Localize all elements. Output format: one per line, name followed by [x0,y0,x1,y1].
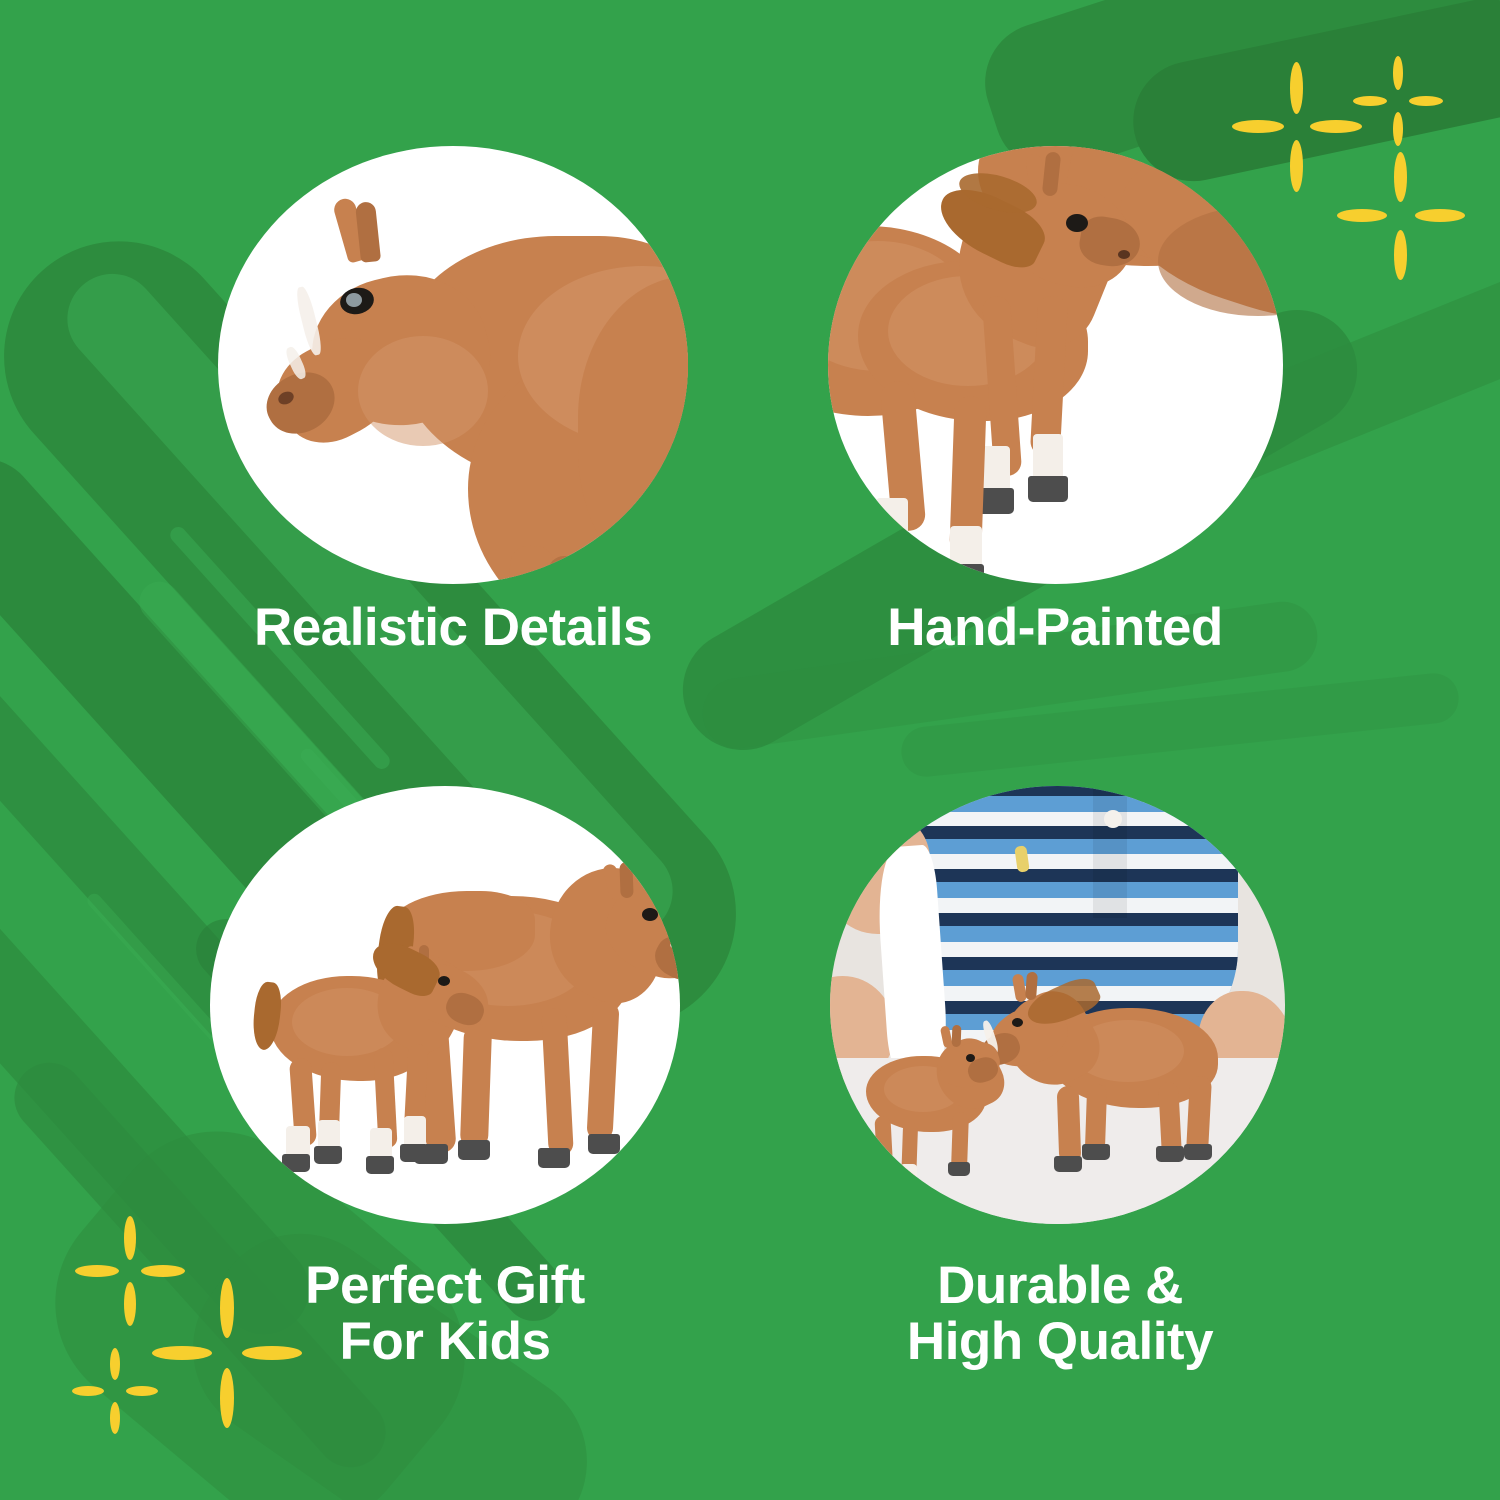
feature-caption-hand-painted: Hand-Painted [820,600,1290,656]
foal-figurine-in-hand [830,786,1285,1224]
sparkle-icon [1353,56,1443,146]
foal-sock [1033,434,1063,482]
mare-head-figurine [218,146,688,584]
foal-figurine-pair [210,786,680,1224]
feature-caption-durable-high-quality: Durable & High Quality [800,1258,1320,1370]
feature-caption-realistic-details: Realistic Details [198,600,708,656]
sparkle-icon [1337,152,1465,280]
sparkle-icon [72,1348,158,1434]
foal-hoof [1028,476,1068,502]
sparkle-icon [152,1278,302,1428]
foal-eye [1066,214,1088,232]
feature-image-hand-painted [828,146,1283,584]
feature-image-realistic-details [218,146,688,584]
foal-figurine [828,146,1283,584]
feature-image-perfect-gift [210,786,680,1224]
feature-image-durable-high-quality [830,786,1285,1224]
product-feature-poster: Realistic Details [0,0,1500,1500]
